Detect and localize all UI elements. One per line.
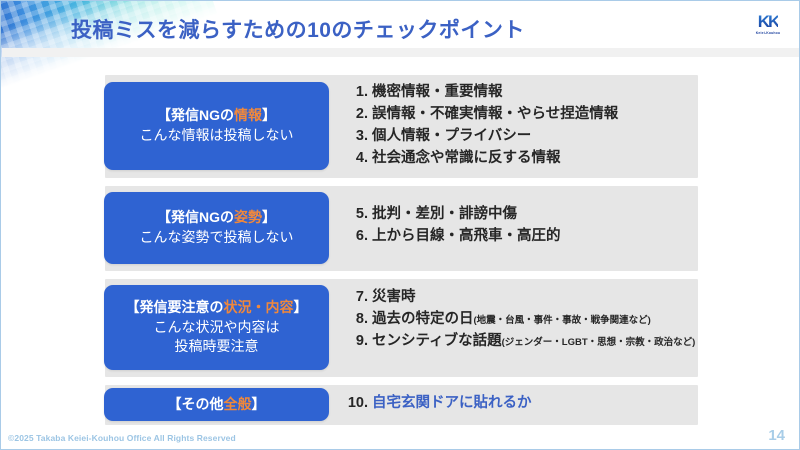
page-number: 14 [768,427,785,444]
checklist-item-number: 9. [342,334,368,349]
category-tag[interactable]: 【発信NGの姿勢】こんな姿勢で投稿しない [104,192,329,264]
checklist-item-text: 自宅玄関ドアに貼れるか [372,396,532,411]
checklist-item-number: 4. [342,151,368,166]
category-tag-heading-suffix: 】 [262,209,276,225]
checklist-item-number: 3. [342,129,368,144]
checklist-item-text: 社会通念や常識に反する情報 [372,151,561,166]
category-tag-heading-highlight: 情報 [234,107,262,123]
checklist-item: 7.災害時 [342,290,695,304]
checklist-item-text: 誤情報・不確実情報・やらせ捏造情報 [372,107,618,122]
checklist-item-number: 7. [342,290,368,305]
checklist-container: 【発信NGの情報】こんな情報は投稿しない1.機密情報・重要情報2.誤情報・不確実… [1,61,800,426]
footer-copyright: ©2025 Takaba Keiei-Kouhou Office All Rig… [8,433,236,443]
page-title: 投稿ミスを減らすための10のチェックポイント [71,14,525,44]
category-tag-heading-suffix: 】 [252,396,266,412]
category-tag-heading-highlight: 状況・内容 [224,299,294,315]
checklist-group: 10.自宅玄関ドアに貼れるか [342,396,532,410]
category-tag-subtext: こんな状況や内容は [154,318,280,338]
logo-subtext: Keiei-Kouhou [756,32,780,35]
checklist-item-text: 過去の特定の日 [372,312,474,327]
checklist-item-text: 上から目線・高飛車・高圧的 [372,229,561,244]
category-tag-heading: 【その他全般】 [168,395,266,415]
checklist-item: 2.誤情報・不確実情報・やらせ捏造情報 [342,107,618,121]
category-tag-heading: 【発信NGの情報】 [157,106,276,126]
category-tag[interactable]: 【発信要注意の状況・内容】こんな状況や内容は投稿時要注意 [104,285,329,370]
category-tag-heading-prefix: 【発信NGの [157,107,234,123]
category-tag-heading-highlight: 全般 [224,396,252,412]
category-tag-subtext: 投稿時要注意 [175,337,259,357]
category-tag[interactable]: 【発信NGの情報】こんな情報は投稿しない [104,82,329,170]
category-tag-subtext: こんな姿勢で投稿しない [140,228,294,248]
category-tag-heading-prefix: 【その他 [168,396,224,412]
checklist-item-note: (ジェンダー・LGBT・思想・宗教・政治など) [502,338,696,348]
checklist-item-number: 1. [342,85,368,100]
header-divider-band [2,48,800,57]
checklist-item-number: 2. [342,107,368,122]
category-tag-heading-suffix: 】 [262,107,276,123]
checklist-group: 5.批判・差別・誹謗中傷6.上から目線・高飛車・高圧的 [342,207,561,243]
slide-canvas: 投稿ミスを減らすための10のチェックポイント KK Keiei-Kouhou 【… [0,0,800,450]
slide-header: 投稿ミスを減らすための10のチェックポイント KK Keiei-Kouhou [1,1,800,49]
checklist-item-note: (地震・台風・事件・事故・戦争関連など) [474,316,651,326]
checklist-item-number: 5. [342,207,368,222]
category-tag-heading-highlight: 姿勢 [234,209,262,225]
checklist-group: 7.災害時8.過去の特定の日(地震・台風・事件・事故・戦争関連など)9.センシテ… [342,290,695,348]
company-logo: KK Keiei-Kouhou [747,9,789,39]
checklist-item-text: 批判・差別・誹謗中傷 [372,207,517,222]
checklist-item-text: 個人情報・プライバシー [372,129,531,144]
checklist-item-text: センシティブな話題 [372,334,502,349]
logo-mark-text: KK [758,13,779,30]
category-tag-heading-prefix: 【発信NGの [157,209,234,225]
checklist-item: 3.個人情報・プライバシー [342,129,618,143]
checklist-item: 1.機密情報・重要情報 [342,85,618,99]
category-tag-subtext: こんな情報は投稿しない [140,126,294,146]
checklist-item: 6.上から目線・高飛車・高圧的 [342,229,561,243]
checklist-item-number: 6. [342,229,368,244]
checklist-item-number: 10. [342,396,368,411]
category-tag[interactable]: 【その他全般】 [104,388,329,421]
checklist-item: 9.センシティブな話題(ジェンダー・LGBT・思想・宗教・政治など) [342,334,695,348]
category-tag-heading-prefix: 【発信要注意の [126,299,224,315]
checklist-item-text: 災害時 [372,290,416,305]
category-tag-heading: 【発信要注意の状況・内容】 [126,298,308,318]
checklist-item: 10.自宅玄関ドアに貼れるか [342,396,532,410]
checklist-item-text: 機密情報・重要情報 [372,85,503,100]
checklist-item: 8.過去の特定の日(地震・台風・事件・事故・戦争関連など) [342,312,695,326]
checklist-group: 1.機密情報・重要情報2.誤情報・不確実情報・やらせ捏造情報3.個人情報・プライ… [342,85,618,165]
category-tag-heading: 【発信NGの姿勢】 [157,208,276,228]
category-tag-heading-suffix: 】 [294,299,308,315]
checklist-item: 4.社会通念や常識に反する情報 [342,151,618,165]
checklist-item-number: 8. [342,312,368,327]
checklist-item: 5.批判・差別・誹謗中傷 [342,207,561,221]
